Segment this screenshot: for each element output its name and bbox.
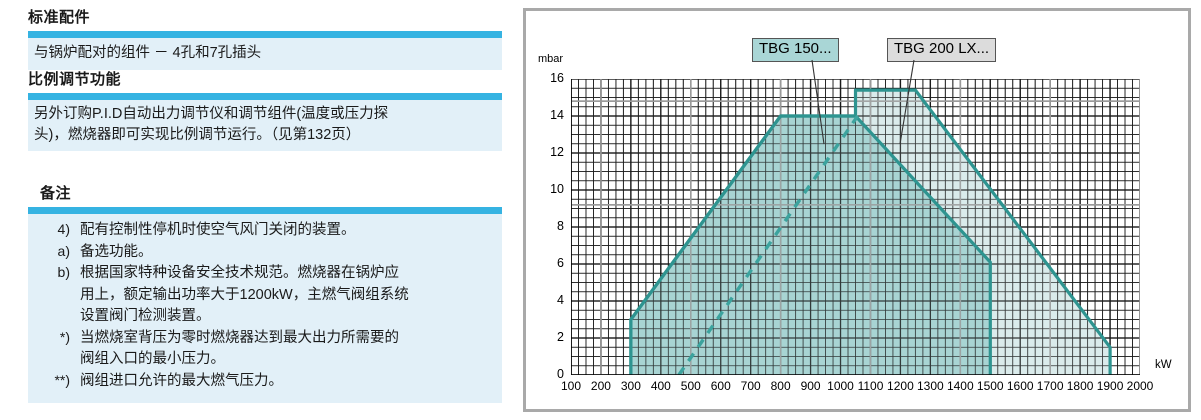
section-rule: [28, 93, 502, 100]
y-axis-unit-label: mbar: [538, 53, 563, 65]
modulating-function-block: 比例调节功能 另外订购P.I.D自动出力调节仪和调节组件(温度或压力探 头)，燃…: [28, 68, 502, 151]
remark-text: 阀组进口允许的最大燃气压力。: [80, 371, 494, 392]
remarks-title: 备注: [28, 182, 502, 207]
section-rule: [28, 207, 502, 214]
y-tick-label: 2: [538, 330, 564, 344]
modulating-function-line-1: 另外订购P.I.D自动出力调节仪和调节组件(温度或压力探: [34, 104, 494, 125]
chart-inner: mbar kW 0246810121416 100200300400500600…: [526, 11, 1188, 409]
remark-text: 设置阀门检测装置。: [80, 306, 494, 327]
y-tick-label: 14: [538, 108, 564, 122]
remark-text: 阀组入口的最小压力。: [80, 349, 494, 370]
remark-item: 4)配有控制性停机时使空气风门关闭的装置。: [36, 220, 494, 241]
y-tick-label: 6: [538, 256, 564, 270]
y-tick-label: 16: [538, 71, 564, 85]
remark-item: 用上，额定输出功率大于1200kW，主燃气阀组系统: [36, 285, 494, 306]
performance-chart-panel: mbar kW 0246810121416 100200300400500600…: [523, 8, 1191, 412]
remark-item: a)备选功能。: [36, 242, 494, 263]
remark-key: a): [36, 242, 80, 262]
y-tick-label: 8: [538, 219, 564, 233]
x-axis-unit-label: kW: [1155, 359, 1172, 371]
remark-item: b)根据国家特种设备安全技术规范。燃烧器在锅炉应: [36, 263, 494, 284]
callout-tbg150: TBG 150...: [752, 38, 839, 62]
standard-accessories-text: 与锅炉配对的组件 － 4孔和7孔插头: [34, 43, 494, 64]
remark-text: 当燃烧室背压为零时燃烧器达到最大出力所需要的: [80, 328, 494, 349]
remark-key: 4): [36, 220, 80, 240]
plot-area: [571, 79, 1140, 375]
modulating-function-body: 另外订购P.I.D自动出力调节仪和调节组件(温度或压力探 头)，燃烧器即可实现比…: [28, 100, 502, 151]
standard-accessories-title: 标准配件: [28, 6, 502, 31]
standard-accessories-body: 与锅炉配对的组件 － 4孔和7孔插头: [28, 38, 502, 70]
remarks-body: 4)配有控制性停机时使空气风门关闭的装置。a)备选功能。b)根据国家特种设备安全…: [28, 214, 502, 403]
remarks-block: 备注 4)配有控制性停机时使空气风门关闭的装置。a)备选功能。b)根据国家特种设…: [28, 182, 502, 403]
remark-text: 备选功能。: [80, 242, 494, 263]
remark-key: **): [36, 371, 80, 391]
remark-item: 设置阀门检测装置。: [36, 306, 494, 327]
remark-text: 根据国家特种设备安全技术规范。燃烧器在锅炉应: [80, 263, 494, 284]
callout-tbg200lx: TBG 200 LX...: [887, 38, 996, 62]
remark-text: 用上，额定输出功率大于1200kW，主燃气阀组系统: [80, 285, 494, 306]
y-tick-label: 12: [538, 145, 564, 159]
page-root: 标准配件 与锅炉配对的组件 － 4孔和7孔插头 比例调节功能 另外订购P.I.D…: [0, 0, 1201, 420]
modulating-function-title: 比例调节功能: [28, 68, 502, 93]
remark-item: *)当燃烧室背压为零时燃烧器达到最大出力所需要的: [36, 328, 494, 349]
standard-accessories-block: 标准配件 与锅炉配对的组件 － 4孔和7孔插头: [28, 6, 502, 70]
remark-key: b): [36, 263, 80, 283]
remark-item: **)阀组进口允许的最大燃气压力。: [36, 371, 494, 392]
modulating-function-line-2: 头)，燃烧器即可实现比例调节运行。（见第132页）: [34, 125, 494, 146]
remark-key: *): [36, 328, 80, 348]
chart-svg: [571, 79, 1140, 375]
section-rule: [28, 31, 502, 38]
remark-item: 阀组入口的最小压力。: [36, 349, 494, 370]
left-text-column: 标准配件 与锅炉配对的组件 － 4孔和7孔插头 比例调节功能 另外订购P.I.D…: [0, 0, 512, 420]
y-tick-label: 4: [538, 293, 564, 307]
y-tick-label: 10: [538, 182, 564, 196]
remark-text: 配有控制性停机时使空气风门关闭的装置。: [80, 220, 494, 241]
x-tick-label: 2000: [1120, 379, 1160, 393]
